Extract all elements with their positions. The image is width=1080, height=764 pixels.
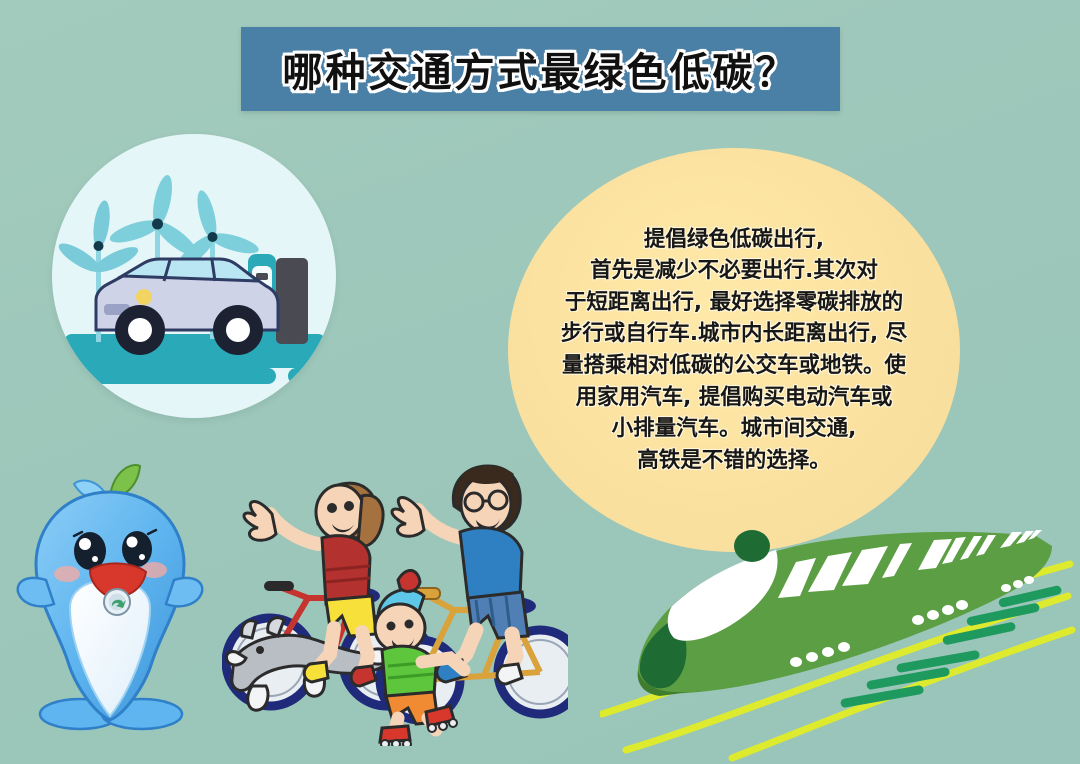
- body-line: 用家用汽车, 提倡购买电动汽车或: [534, 382, 934, 414]
- family-cycling-icon: [222, 440, 568, 746]
- poster-canvas: 哪种交通方式最绿色低碳？: [0, 0, 1080, 764]
- body-line: 提倡绿色低碳出行,: [534, 224, 934, 256]
- body-line: 量搭乘相对低碳的公交车或地铁。使: [534, 350, 934, 382]
- high-speed-train-icon: [600, 500, 1080, 764]
- rollerblade-right: [426, 706, 457, 732]
- body-line: 步行或自行车.城市内长距离出行, 尽: [534, 318, 934, 350]
- body-line: 小排量汽车。城市间交通,: [534, 413, 934, 445]
- body-paragraph: 提倡绿色低碳出行, 首先是减少不必要出行.其次对 于短距离出行, 最好选择零碳排…: [534, 224, 934, 477]
- rollerblade-left: [380, 726, 411, 746]
- whale-mascot: [12, 452, 208, 742]
- roof-unit: [734, 530, 770, 562]
- eco-badge: [104, 589, 130, 615]
- body-line: 于短距离出行, 最好选择零碳排放的: [534, 287, 934, 319]
- body-line: 首先是减少不必要出行.其次对: [534, 255, 934, 287]
- whale-mascot-icon: [12, 452, 208, 742]
- title-banner: 哪种交通方式最绿色低碳？: [241, 27, 840, 111]
- left-cheek: [54, 566, 80, 582]
- ev-charging-illustration: [52, 134, 336, 418]
- ev-charging-icon: [52, 134, 336, 418]
- body-line: 高铁是不错的选择。: [534, 445, 934, 477]
- child-rollerblading: [375, 570, 464, 746]
- page-title: 哪种交通方式最绿色低碳？: [283, 40, 799, 98]
- family-cycling-illustration: [222, 440, 568, 746]
- high-speed-train-illustration: [600, 500, 1080, 764]
- body-text-circle: 提倡绿色低碳出行, 首先是减少不必要出行.其次对 于短距离出行, 最好选择零碳排…: [508, 148, 960, 552]
